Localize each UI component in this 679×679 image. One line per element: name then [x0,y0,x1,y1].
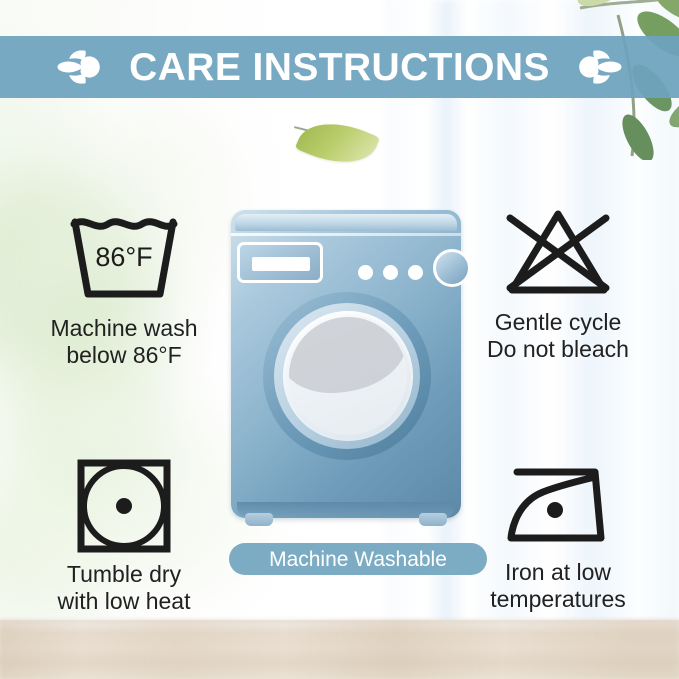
table-grain [0,620,679,679]
care-caption: Gentle cycle Do not bleach [452,309,664,362]
machine-top-band [235,214,457,231]
wooden-table [0,620,679,679]
door-glass [289,317,407,435]
care-instructions-card: CARE INSTRUCTIONS 86°F Machine wash belo… [0,0,679,679]
wash-basin-icon: 86°F [64,208,184,308]
care-symbol [452,440,664,552]
tumble-dry-icon [72,454,176,554]
fleur-de-lis-left-icon [53,45,107,89]
iron-icon [499,456,617,552]
fleur-de-lis-right-icon [572,45,626,89]
detergent-drawer [237,242,323,283]
care-symbol: 86°F [18,196,230,308]
machine-foot-right [419,513,447,526]
machine-body [231,210,461,518]
care-caption: Tumble dry with low heat [18,561,230,614]
care-item-tumble-dry: Tumble dry with low heat [18,442,230,614]
care-caption: Machine wash below 86°F [18,315,230,368]
care-item-do-not-bleach: Gentle cycle Do not bleach [452,190,664,362]
machine-foot-left [245,513,273,526]
washing-machine-illustration [231,210,461,530]
care-symbol [18,442,230,554]
drawer-handle [252,257,310,271]
care-item-iron: Iron at low temperatures [452,440,664,612]
control-dot [383,265,398,280]
care-item-machine-wash: 86°F Machine wash below 86°F [18,196,230,368]
triangle-crossed-icon [496,202,620,302]
care-symbol [452,190,664,302]
machine-top-divider [231,233,461,236]
header-banner: CARE INSTRUCTIONS [0,36,679,98]
program-knob [433,249,471,287]
page-title: CARE INSTRUCTIONS [129,48,550,87]
control-dot [408,265,423,280]
machine-washable-badge: Machine Washable [229,543,487,575]
badge-label: Machine Washable [269,549,447,570]
control-dot [358,265,373,280]
wash-temperature-label: 86°F [95,242,152,272]
door-glass-sheen [289,317,407,393]
